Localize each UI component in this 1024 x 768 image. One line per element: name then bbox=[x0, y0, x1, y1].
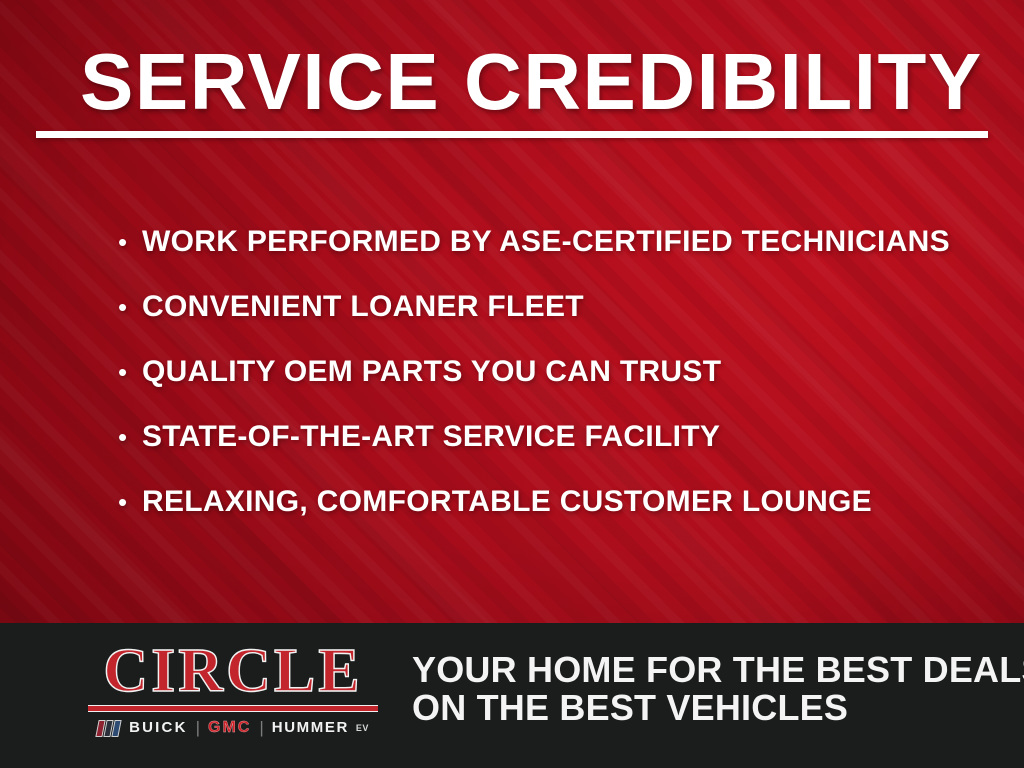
bullet-dot-icon: • bbox=[118, 287, 142, 327]
footer-tagline: YOUR HOME FOR THE BEST DEALS ON THE BEST… bbox=[412, 651, 1012, 727]
list-item-label: CONVENIENT LOANER FLEET bbox=[142, 287, 584, 327]
list-item: • CONVENIENT LOANER FLEET bbox=[118, 287, 998, 352]
list-item: • QUALITY OEM PARTS YOU CAN TRUST bbox=[118, 352, 998, 417]
feature-bullet-list: • WORK PERFORMED BY ASE-CERTIFIED TECHNI… bbox=[118, 222, 998, 547]
bullet-dot-icon: • bbox=[118, 352, 142, 392]
footer-bar: CIRCLE BUICK | GMC | HUMMER EV YOUR HOME… bbox=[0, 623, 1024, 768]
list-item-label: RELAXING, COMFORTABLE CUSTOMER LOUNGE bbox=[142, 482, 872, 522]
brand-separator-icon: | bbox=[196, 720, 200, 736]
list-item-label: WORK PERFORMED BY ASE-CERTIFIED TECHNICI… bbox=[142, 222, 950, 262]
buick-tri-shield-icon bbox=[97, 720, 120, 737]
brand-label-gmc: GMC bbox=[208, 720, 251, 736]
brand-label-buick: BUICK bbox=[129, 720, 188, 736]
bullet-dot-icon: • bbox=[118, 222, 142, 262]
title-underline-rule bbox=[36, 131, 988, 138]
brand-label-hummer-ev-suffix: EV bbox=[356, 723, 369, 733]
brand-strip: BUICK | GMC | HUMMER EV bbox=[88, 719, 378, 737]
footer-tagline-line-2: ON THE BEST VEHICLES bbox=[412, 689, 1012, 727]
list-item: • STATE-OF-THE-ART SERVICE FACILITY bbox=[118, 417, 998, 482]
slide-root: SERVICE CREDIBILITY • WORK PERFORMED BY … bbox=[0, 0, 1024, 768]
list-item-label: STATE-OF-THE-ART SERVICE FACILITY bbox=[142, 417, 720, 457]
list-item: • WORK PERFORMED BY ASE-CERTIFIED TECHNI… bbox=[118, 222, 998, 287]
list-item: • RELAXING, COMFORTABLE CUSTOMER LOUNGE bbox=[118, 482, 998, 547]
footer-tagline-line-1: YOUR HOME FOR THE BEST DEALS bbox=[412, 651, 1012, 689]
page-title: SERVICE CREDIBILITY bbox=[80, 36, 980, 128]
brand-separator-icon: | bbox=[259, 720, 263, 736]
dealer-logo-wordmark: CIRCLE bbox=[88, 641, 378, 701]
dealer-logo-rule bbox=[88, 705, 378, 712]
bullet-dot-icon: • bbox=[118, 417, 142, 457]
list-item-label: QUALITY OEM PARTS YOU CAN TRUST bbox=[142, 352, 721, 392]
brand-label-hummer: HUMMER bbox=[272, 720, 349, 736]
dealer-logo[interactable]: CIRCLE BUICK | GMC | HUMMER EV bbox=[88, 641, 378, 737]
bullet-dot-icon: • bbox=[118, 482, 142, 522]
